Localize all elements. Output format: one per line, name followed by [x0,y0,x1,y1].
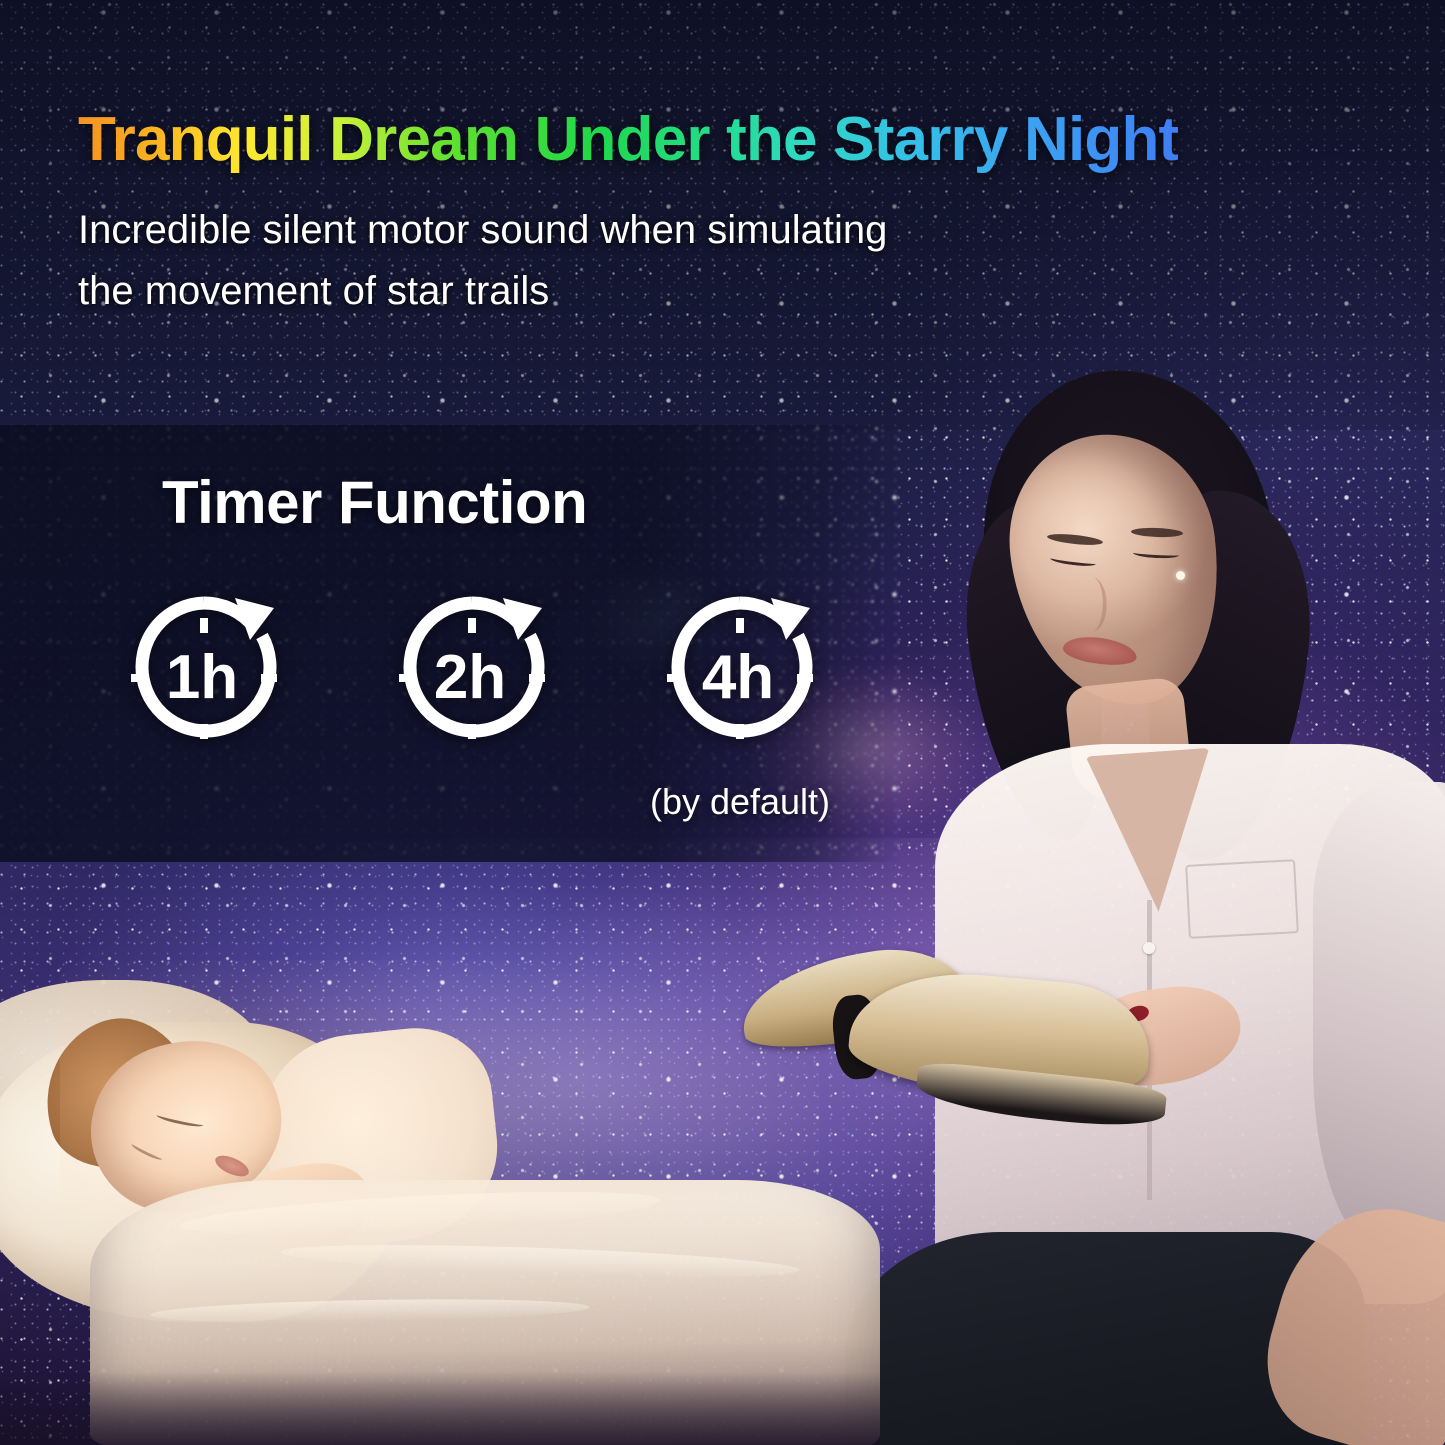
timer-duration-label: 1h [165,643,237,712]
timer-option-2h[interactable]: 2h [338,580,606,781]
timer-rotate-icon: 4h [638,580,843,775]
subtitle-line-2: the movement of star trails [78,269,549,313]
page-title: Tranquil Dream Under the Starry Night [78,104,1178,175]
timer-rotate-icon: 1h [102,580,307,775]
timer-panel-title: Timer Function [162,468,587,537]
subtitle: Incredible silent motor sound when simul… [78,200,1168,322]
timer-function-panel: Timer Function 1h [0,425,900,862]
product-feature-image: Tranquil Dream Under the Starry Night In… [0,0,1445,1445]
timer-option-1h[interactable]: 1h [70,580,338,781]
timer-option-4h[interactable]: 4h (by default) [606,580,874,823]
timer-rotate-icon: 2h [370,580,575,775]
timer-note-4h: (by default) [650,781,830,823]
timer-duration-label: 2h [433,643,505,712]
timer-duration-label: 4h [701,643,773,712]
subtitle-line-1: Incredible silent motor sound when simul… [78,208,887,252]
timer-options-row: 1h 2h [70,580,874,823]
